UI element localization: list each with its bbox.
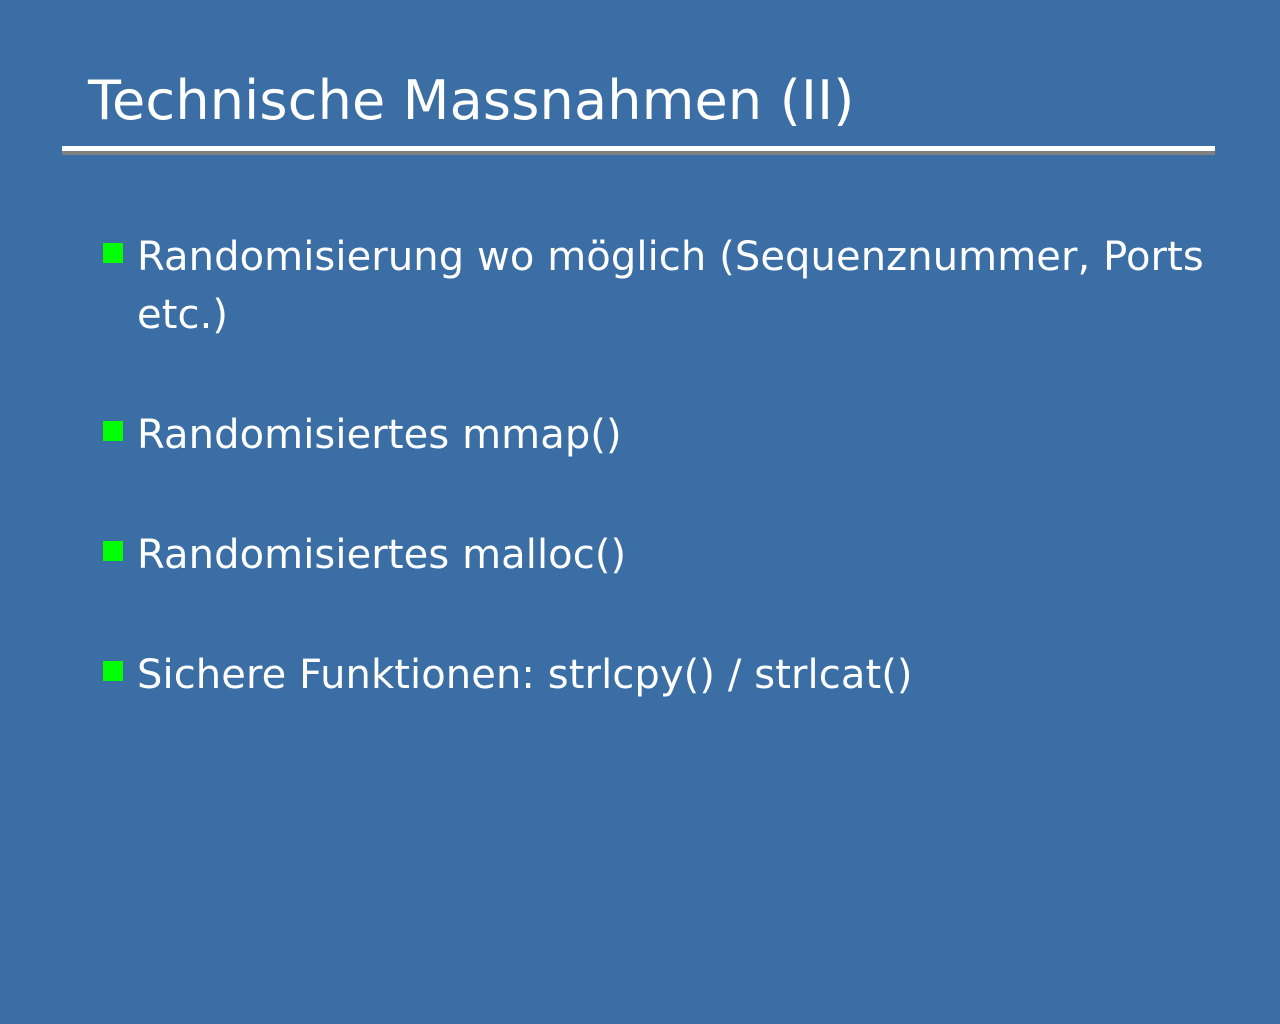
bullet-list: Randomisierung wo möglich (Sequenznummer…: [103, 228, 1213, 704]
title-divider: [62, 146, 1215, 155]
list-item-label: Randomisiertes mmap(): [137, 412, 622, 458]
square-bullet-icon: [103, 541, 123, 561]
list-item-label: Randomisiertes malloc(): [137, 532, 626, 578]
list-item: Randomisierung wo möglich (Sequenznummer…: [103, 228, 1213, 344]
square-bullet-icon: [103, 421, 123, 441]
page-title: Technische Massnahmen (II): [62, 68, 1215, 134]
list-item: Sichere Funktionen: strlcpy() / strlcat(…: [103, 646, 1213, 704]
title-block: Technische Massnahmen (II): [62, 68, 1215, 134]
list-item: Randomisiertes malloc(): [103, 526, 1213, 584]
square-bullet-icon: [103, 661, 123, 681]
square-bullet-icon: [103, 243, 123, 263]
list-item-label: Sichere Funktionen: strlcpy() / strlcat(…: [137, 652, 913, 698]
list-item-label: Randomisierung wo möglich (Sequenznummer…: [137, 234, 1204, 338]
list-item: Randomisiertes mmap(): [103, 406, 1213, 464]
divider-shadow-line: [62, 151, 1215, 155]
presentation-slide: Technische Massnahmen (II) Randomisierun…: [0, 0, 1280, 1024]
